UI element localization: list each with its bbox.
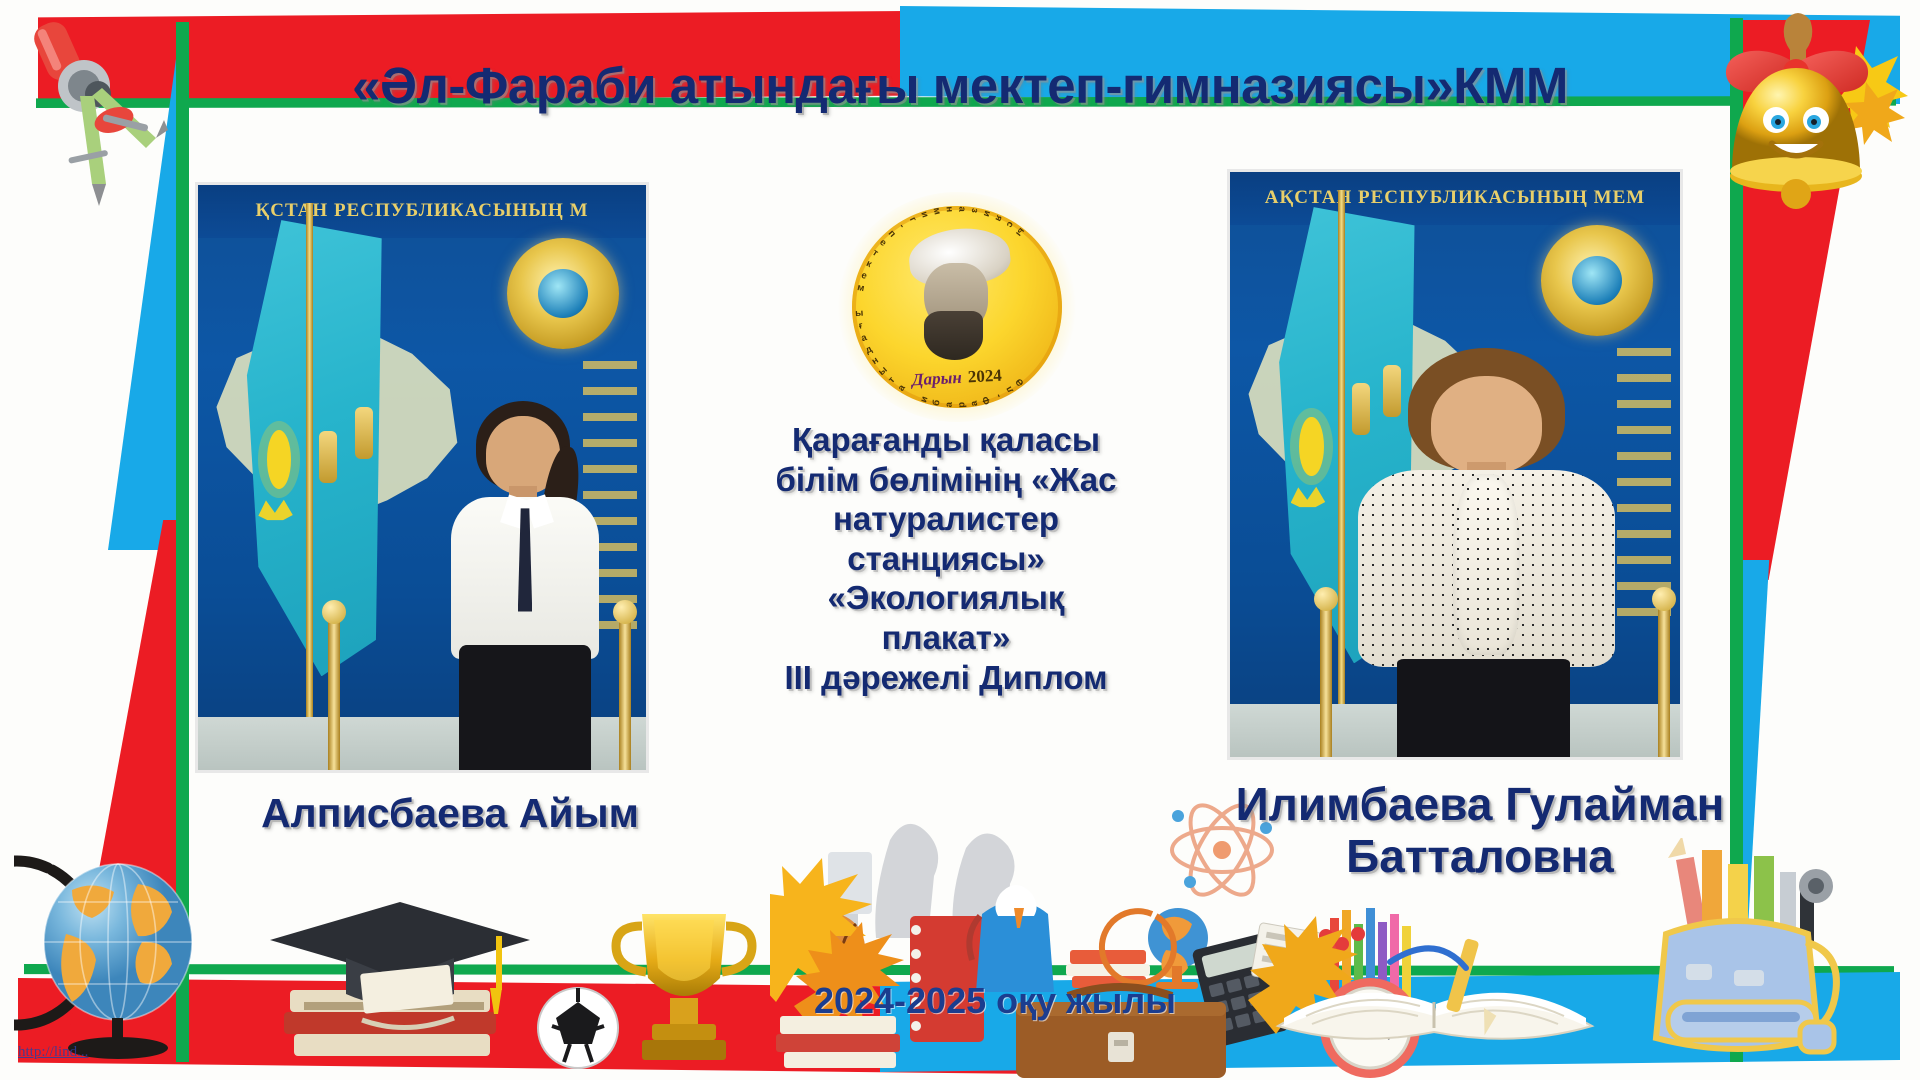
emblem-year: 2024	[967, 366, 1002, 388]
award-line: натуралистер	[722, 499, 1170, 539]
flag-pole	[1338, 190, 1345, 740]
flag-sun	[1299, 417, 1323, 476]
kazakhstan-coat-of-arms	[507, 238, 619, 349]
wall-header-text: ҚСТАН РЕСПУБЛИКАСЫНЫҢ М	[198, 185, 646, 238]
award-poster: «Әл-Фараби атындағы мектеп-гимназиясы»КМ…	[0, 0, 1920, 1080]
black-skirt	[459, 645, 591, 770]
source-watermark-url[interactable]: http://lind...	[18, 1044, 88, 1061]
blouse-ruffle	[1453, 474, 1520, 654]
flag-eagle	[258, 494, 292, 531]
trophy-icon	[530, 880, 760, 1075]
flag-pole	[306, 203, 313, 753]
graduation-cap-icon	[250, 870, 550, 1070]
flag-tassel	[319, 431, 337, 483]
teacher-photo: АҚСТАН РЕСПУБЛИКАСЫНЫҢ МЕМ	[1230, 172, 1680, 757]
emblem-signature-text: Дарын	[912, 368, 963, 391]
kazakhstan-coat-of-arms	[1541, 225, 1654, 336]
student-figure	[422, 401, 628, 770]
globe-icon	[14, 838, 224, 1063]
flag-tassel	[355, 407, 373, 459]
black-skirt	[1397, 659, 1570, 757]
al-farabi-portrait	[902, 229, 1011, 362]
school-emblem: Әл-Фараби атындағы мектеп-гимназиясы Дар…	[838, 192, 1076, 422]
face	[1431, 376, 1543, 474]
school-bell-icon	[1680, 8, 1910, 223]
page-title: «Әл-Фараби атындағы мектеп-гимназиясы»КМ…	[0, 56, 1920, 115]
teacher-name-line: Илимбаева Гулайман	[1130, 778, 1830, 830]
rope-post	[1320, 605, 1332, 757]
portrait-beard	[924, 311, 983, 359]
open-book-icon	[1270, 890, 1600, 1070]
student-photo: ҚСТАН РЕСПУБЛИКАСЫНЫҢ М	[198, 185, 646, 770]
award-line: плакат»	[722, 618, 1170, 658]
flag-eagle	[1291, 481, 1326, 518]
award-line: «Экологиялық	[722, 578, 1170, 618]
teacher-figure	[1347, 348, 1626, 758]
teacher-name: Илимбаева Гулайман Батталовна	[1130, 778, 1830, 883]
rope-post	[1658, 605, 1670, 757]
award-line: станциясы»	[722, 539, 1170, 579]
wall-header-text: АҚСТАН РЕСПУБЛИКАСЫНЫҢ МЕМ	[1230, 172, 1680, 225]
compass-drafting-icon	[18, 8, 218, 208]
teacher-name-line: Батталовна	[1130, 830, 1830, 882]
award-line: Қарағанды қаласы	[722, 420, 1170, 460]
emblem-signature: Дарын 2024	[875, 351, 1039, 405]
school-year-label: 2024-2025 оқу жылы	[760, 980, 1230, 1022]
award-description: Қарағанды қаласы білім бөлімінің «Жас на…	[722, 420, 1170, 697]
award-line: III дәрежелі Диплом	[722, 658, 1170, 698]
rope-post	[328, 618, 340, 770]
student-name: Алписбаева Айым	[130, 790, 770, 837]
award-line: білім бөлімінің «Жас	[722, 460, 1170, 500]
flag-sun	[267, 430, 291, 489]
